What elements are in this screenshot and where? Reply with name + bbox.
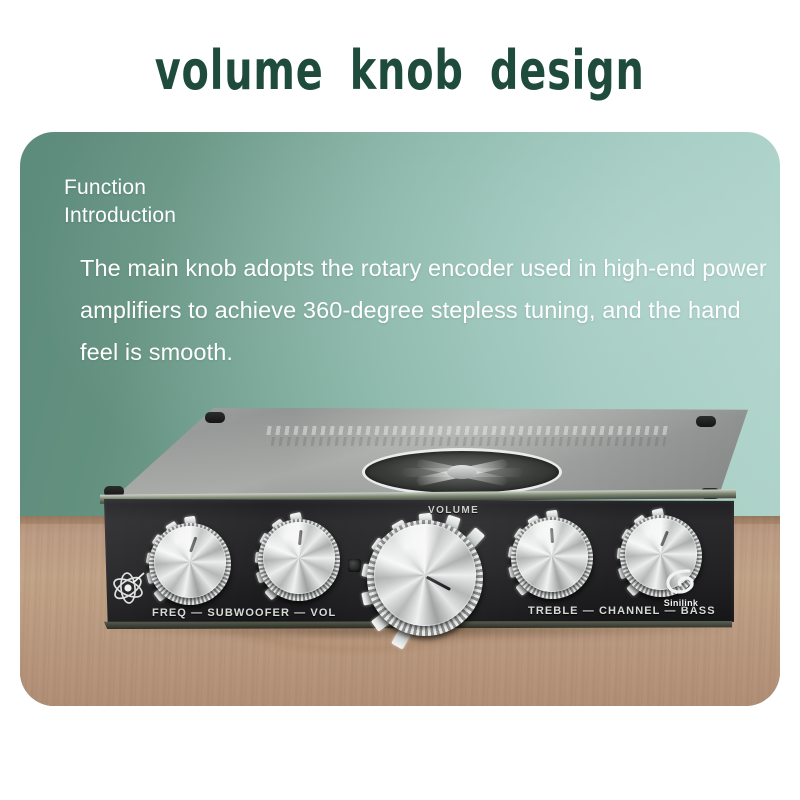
left-knob-group-label: FREQ — SUBWOOFER — VOL bbox=[152, 607, 336, 619]
atom-logo-icon bbox=[110, 570, 146, 606]
brand-mark-icon bbox=[659, 567, 703, 597]
knob-cap bbox=[154, 526, 226, 598]
standoff-foot bbox=[205, 412, 225, 423]
heading-line-2: Introduction bbox=[64, 202, 176, 230]
feature-card: Function Introduction The main knob adop… bbox=[20, 132, 780, 706]
knob-cap bbox=[374, 524, 476, 626]
description-paragraph: The main knob adopts the rotary encoder … bbox=[80, 247, 770, 373]
freq-subwoofer-knob[interactable] bbox=[148, 520, 234, 610]
main-volume-knob[interactable] bbox=[365, 516, 487, 642]
fan-hub bbox=[447, 465, 477, 479]
device-top-silkscreen-text bbox=[264, 424, 668, 450]
brand-name-text: Sinilink bbox=[659, 598, 703, 608]
cooling-fan-grille bbox=[362, 448, 562, 496]
page-title-text: volume knob design bbox=[155, 42, 645, 100]
page-title: volume knob design bbox=[0, 42, 800, 100]
volume-label: VOLUME bbox=[428, 505, 479, 516]
audio-amplifier-device: VOLUME FREQ — SUBWOOFER — VOL TREBLE — C… bbox=[76, 404, 748, 628]
screenshot-root: volume knob design Function Introduction… bbox=[0, 0, 800, 800]
heading-line-1: Function bbox=[64, 174, 176, 202]
function-introduction-heading: Function Introduction bbox=[64, 174, 176, 230]
treble-knob[interactable] bbox=[510, 514, 596, 604]
brand-logo: Sinilink bbox=[659, 567, 703, 611]
standoff-foot bbox=[696, 416, 716, 427]
subwoofer-vol-knob[interactable] bbox=[257, 516, 343, 606]
